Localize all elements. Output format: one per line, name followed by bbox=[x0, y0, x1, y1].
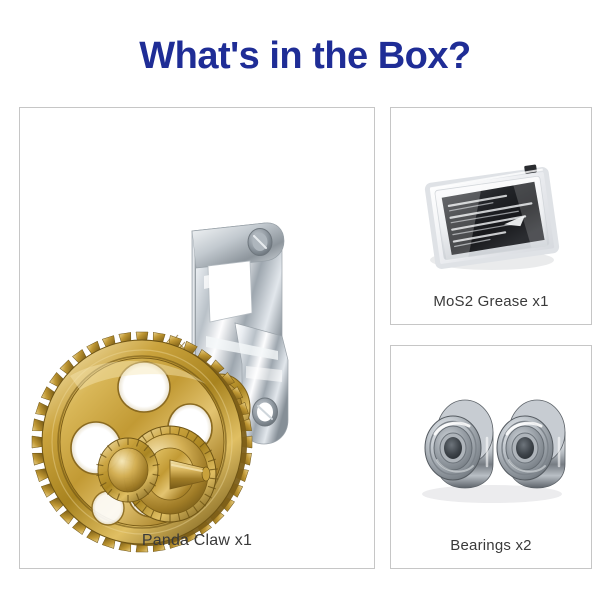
product-card-panda-claw: Panda Claw x1 bbox=[19, 107, 375, 569]
bearing-right bbox=[497, 400, 565, 488]
gear-assembly-graphic bbox=[20, 108, 375, 569]
panel-caption-panda-claw: Panda Claw x1 bbox=[20, 532, 374, 550]
panel-caption-mos2-grease: MoS2 Grease x1 bbox=[391, 293, 591, 310]
sachet-body bbox=[426, 163, 557, 267]
panda-claw-illustration bbox=[20, 108, 375, 569]
product-card-mos2-grease: MoS2 Grease x1 bbox=[390, 107, 592, 325]
bearing-left bbox=[425, 400, 493, 488]
bearings-illustration bbox=[391, 346, 592, 569]
panel-caption-bearings: Bearings x2 bbox=[391, 537, 591, 554]
page-title: What's in the Box? bbox=[0, 34, 610, 78]
product-card-bearings: Bearings x2 bbox=[390, 345, 592, 569]
ball-bearings-graphic bbox=[391, 346, 592, 569]
